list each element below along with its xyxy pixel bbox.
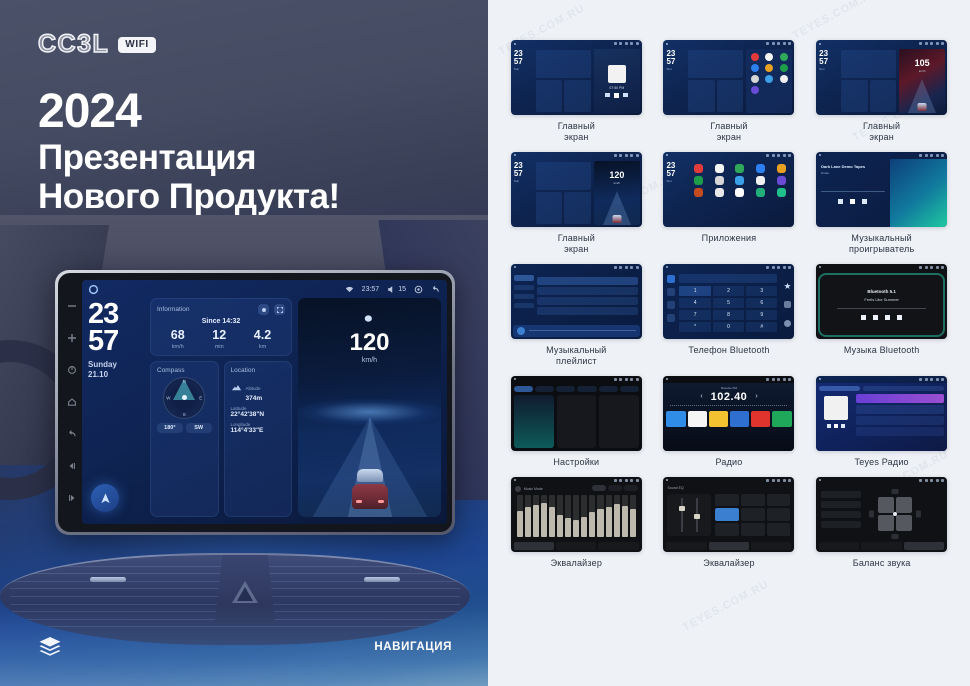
presentation-slide: CC3L WIFI 2024 Презентация Нового Продук… bbox=[0, 0, 970, 686]
gallery-caption: Настройки bbox=[553, 457, 599, 468]
gallery-caption: Музыкальныйпроигрыватель bbox=[849, 233, 914, 255]
gallery-caption-line: Телефон Bluetooth bbox=[688, 345, 769, 355]
logo-model-text: CC3L bbox=[38, 32, 109, 57]
gallery-caption-line: Музыка Bluetooth bbox=[844, 345, 920, 355]
gallery-thumbnail-home-media[interactable]: 2357Sun07:50 PM bbox=[511, 40, 642, 115]
gallery-caption: Эквалайзер bbox=[703, 558, 754, 569]
trip-stat-value: 12 bbox=[212, 329, 226, 342]
gallery-item[interactable]: Sound EQЭквалайзер bbox=[655, 477, 804, 569]
compass-label-e: E bbox=[199, 395, 202, 400]
driving-view-card[interactable]: 120 km/h bbox=[298, 298, 441, 517]
navigation-label: НАВИГАЦИЯ bbox=[374, 641, 452, 653]
dashcam-icon[interactable] bbox=[414, 285, 423, 294]
location-title: Location bbox=[231, 367, 286, 374]
gallery-item[interactable]: 2357Sun07:50 PMГлавныйэкран bbox=[502, 40, 651, 143]
screenshot-gallery-panel: TEYES.COM.RU TEYES.COM.RU TEYES.COM.RU T… bbox=[488, 0, 970, 686]
compass-heading: 180° bbox=[157, 423, 183, 433]
hero-headline: 2024 Презентация Нового Продукта! bbox=[38, 86, 340, 217]
gallery-caption: Приложения bbox=[702, 233, 757, 244]
clock-weekday: Sunday bbox=[88, 360, 144, 370]
gallery-caption-line: плейлист bbox=[556, 356, 597, 366]
screen-status-bar: 23:57 15 bbox=[82, 280, 447, 298]
clock-column: 23 57 Sunday 21.10 bbox=[88, 298, 144, 517]
hazard-triangle-inner bbox=[237, 587, 253, 601]
gallery-caption-line: экран bbox=[564, 244, 589, 254]
gallery-caption-line: Teyes Радио bbox=[855, 457, 909, 467]
head-unit-frame: 23:57 15 bbox=[58, 273, 452, 532]
gallery-item[interactable]: Bluetooth 5.1Feels Like SummerМузыка Blu… bbox=[807, 264, 956, 367]
gallery-caption-line: проигрыватель bbox=[849, 244, 914, 254]
power-key[interactable] bbox=[67, 365, 78, 376]
logo-wifi-badge: WIFI bbox=[118, 37, 156, 53]
gallery-thumbnail-apps-grid[interactable]: 2357Sun bbox=[663, 152, 794, 227]
car-windshield bbox=[357, 469, 383, 482]
vent-knob-left[interactable] bbox=[90, 577, 126, 582]
gallery-thumbnail-bt-music[interactable]: Bluetooth 5.1Feels Like Summer bbox=[816, 264, 947, 339]
latitude-value: 22°42'38"N bbox=[231, 411, 286, 418]
gallery-caption: Музыкальныйплейлист bbox=[546, 345, 606, 367]
clock-date: 21.10 bbox=[88, 370, 144, 380]
compass-card[interactable]: Compass N E S W bbox=[150, 361, 219, 518]
wifi-signal-icon bbox=[345, 285, 354, 294]
gallery-item[interactable]: 2357Sun105km/hГлавныйэкран bbox=[807, 40, 956, 143]
back-key[interactable] bbox=[67, 429, 78, 440]
status-time: 23:57 bbox=[362, 286, 380, 293]
gallery-caption: Главныйэкран bbox=[863, 121, 900, 143]
hardware-key-strip[interactable] bbox=[62, 280, 82, 524]
hero-line-2: Нового Продукта! bbox=[38, 177, 340, 217]
compass-center-dot bbox=[182, 395, 187, 400]
headlight-icon bbox=[298, 310, 441, 328]
compass-label-s: S bbox=[183, 412, 186, 417]
gallery-caption-line: экран bbox=[869, 132, 894, 142]
gallery-thumbnail-home-drive[interactable]: 2357Sun105km/h bbox=[816, 40, 947, 115]
gallery-item[interactable]: 123456789*0#Телефон Bluetooth bbox=[655, 264, 804, 367]
gallery-caption: Телефон Bluetooth bbox=[688, 345, 769, 356]
gallery-item[interactable]: Teyes Радио bbox=[807, 376, 956, 468]
gallery-caption-line: Настройки bbox=[553, 457, 599, 467]
gallery-thumbnail-music-player[interactable]: Dark Lane Demo TapesDrake bbox=[816, 152, 947, 227]
back-arrow-icon[interactable] bbox=[431, 285, 440, 294]
gallery-caption-line: Эквалайзер bbox=[703, 558, 754, 568]
car-taillight-right bbox=[378, 500, 384, 503]
trip-stat-unit: min bbox=[212, 344, 226, 350]
gallery-caption-line: Музыкальный bbox=[546, 345, 606, 355]
gallery-item[interactable]: Музыкальныйплейлист bbox=[502, 264, 651, 367]
layers-stack-icon bbox=[38, 636, 62, 658]
prev-track-key[interactable] bbox=[67, 461, 78, 472]
trip-stat: 4.2 km bbox=[254, 329, 271, 350]
gallery-item[interactable]: Настройки bbox=[502, 376, 651, 468]
gallery-caption: Музыка Bluetooth bbox=[844, 345, 920, 356]
hero-footer: НАВИГАЦИЯ bbox=[0, 616, 488, 686]
volume-up-key[interactable] bbox=[67, 333, 78, 344]
information-card[interactable]: Information Since 14:32 bbox=[150, 298, 292, 356]
hero-year: 2024 bbox=[38, 86, 340, 138]
car-3d-model bbox=[350, 475, 390, 509]
compass-title: Compass bbox=[157, 367, 212, 374]
gallery-caption-line: экран bbox=[564, 132, 589, 142]
mountain-icon bbox=[231, 380, 242, 398]
head-unit-bezel: 23:57 15 bbox=[55, 270, 455, 535]
gear-icon[interactable] bbox=[258, 304, 269, 315]
gallery-caption: Teyes Радио bbox=[855, 457, 909, 468]
car-taillight-left bbox=[356, 500, 362, 503]
navigation-arrow-icon[interactable] bbox=[91, 484, 119, 512]
gallery-caption: Эквалайзер bbox=[551, 558, 602, 569]
volume-down-key[interactable] bbox=[67, 301, 78, 312]
compass-label-w: W bbox=[166, 395, 170, 400]
gallery-caption-line: Баланс звука bbox=[853, 558, 911, 568]
gallery-item[interactable]: 2357SunГлавныйэкран bbox=[655, 40, 804, 143]
altitude-value: 374m bbox=[246, 395, 263, 402]
gallery-thumbnail-music-list[interactable] bbox=[511, 264, 642, 339]
information-title: Information bbox=[157, 306, 190, 313]
longitude-value: 114°4'33"E bbox=[231, 427, 286, 434]
trip-stat: 68 km/h bbox=[171, 329, 185, 350]
gallery-thumbnail-equalizer-bars[interactable]: Music Mode bbox=[511, 477, 642, 552]
home-key[interactable] bbox=[67, 397, 78, 408]
watermark: TEYES.COM.RU bbox=[681, 578, 771, 634]
gallery-item[interactable]: Music ModeЭквалайзер bbox=[502, 477, 651, 569]
clock-minutes: 57 bbox=[88, 328, 144, 355]
gallery-thumbnail-equalizer-fader[interactable]: Sound EQ bbox=[663, 477, 794, 552]
gallery-thumbnail-home-apps[interactable]: 2357Sun bbox=[663, 40, 794, 115]
clock-hours: 23 bbox=[88, 301, 144, 328]
gallery-caption-line: Главный bbox=[558, 233, 595, 243]
gallery-item[interactable]: Dark Lane Demo TapesDrakeМузыкальныйпрои… bbox=[807, 152, 956, 255]
speed-value: 120 bbox=[298, 331, 441, 355]
gallery-caption: Главныйэкран bbox=[710, 121, 747, 143]
product-logo: CC3L WIFI bbox=[38, 32, 156, 57]
gallery-caption-line: Главный bbox=[710, 121, 747, 131]
volume-icon bbox=[387, 285, 396, 294]
car-body bbox=[352, 484, 388, 509]
gallery-thumbnail-settings[interactable] bbox=[511, 376, 642, 451]
gallery-grid: 2357Sun07:50 PMГлавныйэкран2357SunГлавны… bbox=[488, 40, 970, 569]
gallery-caption: Главныйэкран bbox=[558, 233, 595, 255]
trip-since-label: Since 14:32 bbox=[157, 318, 285, 325]
gallery-caption-line: экран bbox=[717, 132, 742, 142]
gallery-caption-line: Главный bbox=[558, 121, 595, 131]
gallery-caption-line: Главный bbox=[863, 121, 900, 131]
trip-stat-unit: km/h bbox=[171, 344, 185, 350]
infotainment-screen[interactable]: 23:57 15 bbox=[82, 280, 447, 524]
gallery-caption-line: Приложения bbox=[702, 233, 757, 243]
hero-line-1: Презентация bbox=[38, 138, 340, 178]
trip-stat: 12 min bbox=[212, 329, 226, 350]
expand-icon[interactable] bbox=[274, 304, 285, 315]
screen-content: 23 57 Sunday 21.10 bbox=[82, 298, 447, 524]
gallery-thumbnail-home-speed[interactable]: 2357Sun120km/h bbox=[511, 152, 642, 227]
gallery-item[interactable]: 2357SunПриложения bbox=[655, 152, 804, 255]
widget-column: Information Since 14:32 bbox=[150, 298, 292, 517]
gallery-thumbnail-teyes-radio[interactable] bbox=[816, 376, 947, 451]
status-volume: 15 bbox=[398, 286, 406, 293]
gallery-caption: Главныйэкран bbox=[558, 121, 595, 143]
trip-stat-value: 4.2 bbox=[254, 329, 271, 342]
watermark: TEYES.COM.RU bbox=[791, 0, 881, 42]
compass-dial: N E S W bbox=[163, 377, 205, 419]
compass-direction: SW bbox=[186, 423, 212, 433]
gallery-caption-line: Эквалайзер bbox=[551, 558, 602, 568]
home-icon[interactable] bbox=[88, 284, 99, 295]
speed-unit: km/h bbox=[298, 357, 441, 364]
vent-knob-right[interactable] bbox=[364, 577, 400, 582]
next-track-key[interactable] bbox=[67, 493, 78, 504]
gallery-item[interactable]: Баланс звука bbox=[807, 477, 956, 569]
trip-stats: 68 km/h 12 min 4.2 bbox=[157, 329, 285, 350]
gallery-caption: Баланс звука bbox=[853, 558, 911, 569]
speed-readout: 120 km/h bbox=[298, 310, 441, 364]
gallery-thumbnail-sound-balance[interactable] bbox=[816, 477, 947, 552]
gallery-caption-line: Музыкальный bbox=[851, 233, 911, 243]
hero-panel: CC3L WIFI 2024 Презентация Нового Продук… bbox=[0, 0, 488, 686]
gallery-thumbnail-radio[interactable]: Receive FM‹102.40› bbox=[663, 376, 794, 451]
compass-label-n: N bbox=[183, 379, 186, 384]
gallery-caption-line: Радио bbox=[715, 457, 742, 467]
gallery-thumbnail-bt-phone[interactable]: 123456789*0# bbox=[663, 264, 794, 339]
gallery-item[interactable]: Receive FM‹102.40›Радио bbox=[655, 376, 804, 468]
trip-stat-value: 68 bbox=[171, 329, 185, 342]
altitude-label: Altitude bbox=[246, 386, 261, 391]
location-card[interactable]: Location Altitude 374m bbox=[224, 361, 293, 518]
gallery-item[interactable]: 2357Sun120km/hГлавныйэкран bbox=[502, 152, 651, 255]
gallery-caption: Радио bbox=[715, 457, 742, 468]
trip-stat-unit: km bbox=[254, 344, 271, 350]
